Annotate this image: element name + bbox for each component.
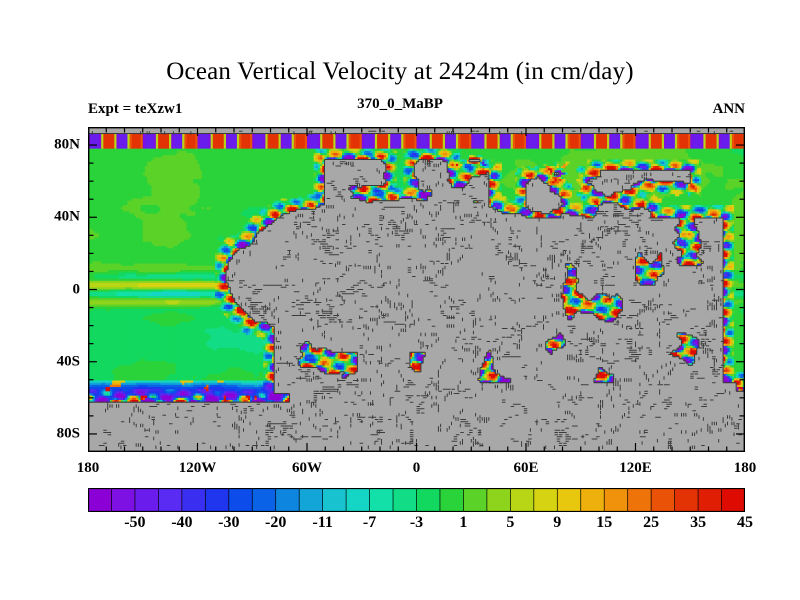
y-tick-80S: 80S (20, 425, 80, 442)
colorbar-cell-8 (276, 488, 300, 512)
colorbar-tick--11: -11 (312, 514, 332, 532)
ocean-vertical-velocity-heatmap (88, 127, 745, 452)
x-tick-120W-1: 120W (179, 460, 217, 477)
colorbar-cell-18 (510, 488, 534, 512)
colorbar-cell-19 (534, 488, 558, 512)
colorbar-cell-10 (323, 488, 347, 512)
season-label: ANN (713, 101, 746, 118)
colorbar-cell-16 (463, 488, 487, 512)
colorbar-cell-6 (229, 488, 253, 512)
colorbar-cell-26 (698, 488, 722, 512)
colorbar-cell-20 (557, 488, 581, 512)
colorbar-cell-12 (370, 488, 394, 512)
x-tick-60E-4: 60E (513, 460, 538, 477)
x-tick-60W-2: 60W (292, 460, 322, 477)
colorbar-tick-1: 1 (459, 514, 467, 532)
figure-title: Ocean Vertical Velocity at 2424m (in cm/… (0, 58, 800, 86)
colorbar-cell-23 (628, 488, 652, 512)
colorbar-cell-27 (722, 488, 745, 512)
colorbar-cell-25 (675, 488, 699, 512)
colorbar-cell-4 (182, 488, 206, 512)
colorbar-cell-5 (205, 488, 229, 512)
colorbar-tick--20: -20 (265, 514, 286, 532)
x-tick-180-6: 180 (734, 460, 757, 477)
y-tick-80N: 80N (20, 137, 80, 154)
colorbar-cell-3 (158, 488, 182, 512)
colorbar-cell-24 (651, 488, 675, 512)
colorbar-cell-15 (440, 488, 464, 512)
x-tick-0-3: 0 (413, 460, 421, 477)
colorbar-tick-5: 5 (506, 514, 514, 532)
colorbar-cell-2 (135, 488, 159, 512)
colorbar-tick--30: -30 (218, 514, 239, 532)
colorbar-cell-11 (346, 488, 370, 512)
x-tick-180-0: 180 (77, 460, 100, 477)
colorbar-tick--50: -50 (124, 514, 145, 532)
colorbar-tick-45: 45 (737, 514, 753, 532)
colorbar-tick-25: 25 (643, 514, 659, 532)
colorbar (88, 488, 745, 512)
colorbar-tick-35: 35 (690, 514, 706, 532)
colorbar-cell-13 (393, 488, 417, 512)
figure-root: Ocean Vertical Velocity at 2424m (in cm/… (0, 0, 800, 600)
colorbar-cell-17 (487, 488, 511, 512)
run-id-label: 370_0_MaBP (0, 96, 800, 113)
y-tick-0: 0 (20, 281, 80, 298)
colorbar-cell-21 (581, 488, 605, 512)
colorbar-cell-9 (299, 488, 323, 512)
colorbar-tick-9: 9 (553, 514, 561, 532)
colorbar-tick--3: -3 (410, 514, 423, 532)
x-tick-120E-5: 120E (619, 460, 652, 477)
colorbar-cell-7 (252, 488, 276, 512)
colorbar-swatches (88, 488, 745, 512)
colorbar-tick-15: 15 (596, 514, 612, 532)
map-plot-area (88, 127, 745, 452)
colorbar-cell-0 (88, 488, 112, 512)
colorbar-cell-22 (604, 488, 628, 512)
colorbar-cell-1 (111, 488, 135, 512)
y-tick-40N: 40N (20, 209, 80, 226)
colorbar-cell-14 (417, 488, 441, 512)
colorbar-tick--40: -40 (171, 514, 192, 532)
y-tick-40S: 40S (20, 353, 80, 370)
colorbar-tick--7: -7 (363, 514, 376, 532)
